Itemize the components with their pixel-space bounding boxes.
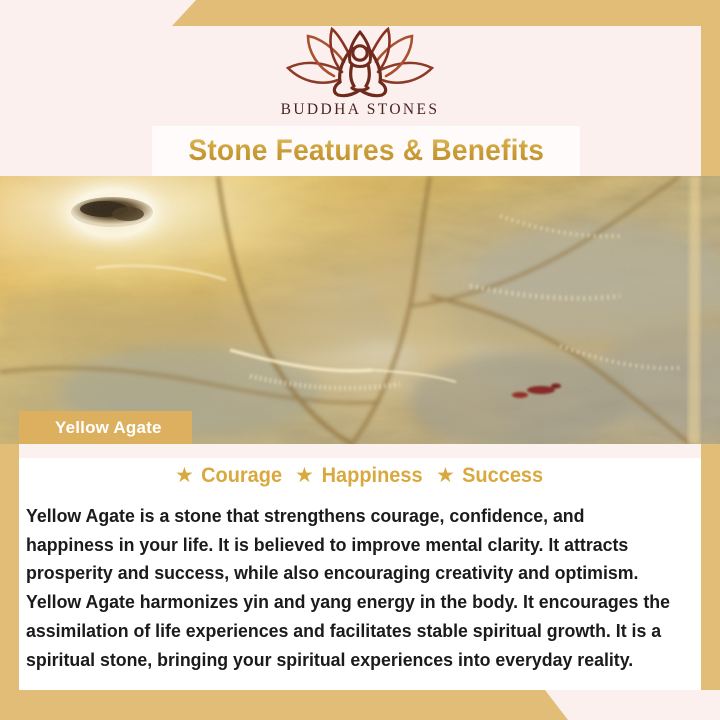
gold-frame-bottom xyxy=(0,690,720,720)
lotus-meditation-icon xyxy=(282,26,438,98)
benefit-item: ★ Courage xyxy=(175,464,284,488)
benefit-item: ★ Success xyxy=(436,464,545,488)
star-icon: ★ xyxy=(295,465,314,486)
section-title-banner: Stone Features & Benefits xyxy=(152,126,580,176)
card-top-tint xyxy=(19,444,701,458)
gold-frame-left xyxy=(0,434,19,720)
stone-texture-image xyxy=(0,176,720,444)
page-title: Stone Features & Benefits xyxy=(188,134,544,168)
star-icon: ★ xyxy=(175,465,194,486)
star-icon: ★ xyxy=(436,465,455,486)
product-info-card: BUDDHA STONES Stone Features & Benefits xyxy=(0,0,720,720)
benefit-label: Courage xyxy=(201,464,282,488)
brand-logo: BUDDHA STONES xyxy=(0,26,720,119)
benefit-label: Happiness xyxy=(321,464,422,488)
stone-photo: Yellow Agate xyxy=(0,176,720,444)
benefits-list: ★ Courage ★ Happiness ★ Success xyxy=(19,464,701,488)
benefit-item: ★ Happiness xyxy=(295,464,425,488)
description-card: ★ Courage ★ Happiness ★ Success Yellow A… xyxy=(19,444,701,690)
brand-name: BUDDHA STONES xyxy=(0,101,720,119)
description-text: Yellow Agate is a stone that strengthens… xyxy=(26,502,671,674)
stone-name-badge: Yellow Agate xyxy=(19,411,192,444)
benefit-label: Success xyxy=(462,464,543,488)
stone-name: Yellow Agate xyxy=(55,418,162,438)
